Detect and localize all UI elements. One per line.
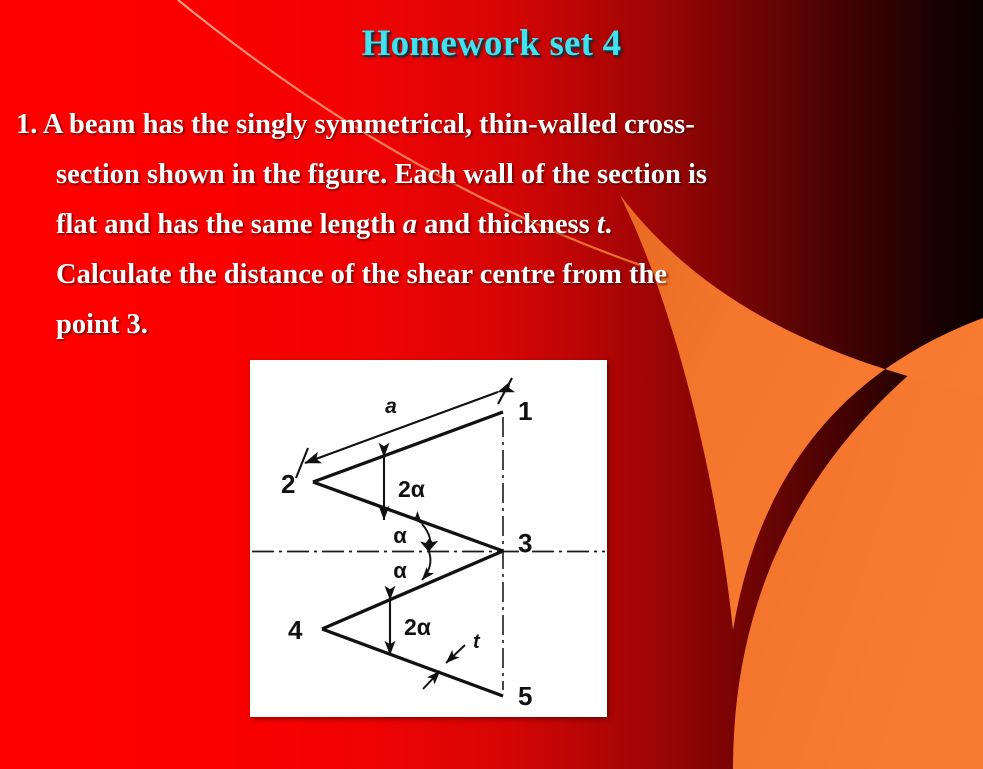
angle-2alpha-top-label: 2α [398, 476, 425, 502]
angle-2alpha-bottom-label: 2α [404, 614, 431, 640]
angle-alpha-upper-arc [422, 524, 430, 551]
question-line-5: point 3. [16, 300, 896, 350]
dimension-a-arrow [305, 392, 498, 463]
wall-1-2 [313, 412, 503, 482]
question-line-3: flat and has the same length a and thick… [16, 200, 896, 250]
question-line-4: Calculate the distance of the shear cent… [16, 250, 896, 300]
angle-alpha-upper-group [422, 524, 430, 551]
question-line-3-end: . [605, 209, 612, 240]
dimension-a-tick-right [498, 378, 512, 404]
question-body: 1. A beam has the singly symmetrical, th… [16, 100, 896, 350]
node-label-1: 1 [518, 396, 532, 426]
question-line-2: section shown in the figure. Each wall o… [16, 150, 896, 200]
page-title: Homework set 4 [0, 22, 983, 65]
thickness-t-arrow-upper [446, 645, 465, 663]
node-label-4: 4 [288, 615, 303, 645]
angle-alpha-lower-arc [422, 552, 430, 580]
cross-section-figure: a 2α α α 2α [250, 360, 607, 717]
angle-alpha-lower-group [422, 552, 430, 580]
cross-section-diagram: a 2α α α 2α [250, 360, 607, 717]
variable-t: t [597, 209, 605, 240]
section-walls [313, 412, 503, 696]
node-label-3: 3 [518, 528, 532, 558]
thickness-t-label: t [473, 631, 481, 653]
variable-a: a [403, 209, 417, 240]
question-line-1: 1. A beam has the singly symmetrical, th… [16, 100, 896, 150]
node-label-2: 2 [281, 469, 295, 499]
question-line-3-mid: and thickness [417, 209, 597, 240]
dimension-a-group [296, 378, 512, 478]
dimension-a-label: a [385, 395, 397, 418]
orange-swoosh-shape [733, 318, 983, 769]
angle-alpha-upper-label: α [393, 523, 407, 548]
question-line-3-pre: flat and has the same length [56, 209, 403, 240]
slide-canvas: Homework set 4 1. A beam has the singly … [0, 0, 983, 769]
thickness-t-arrow-lower [423, 671, 440, 689]
node-label-5: 5 [518, 681, 532, 711]
angle-alpha-lower-label: α [393, 558, 407, 583]
